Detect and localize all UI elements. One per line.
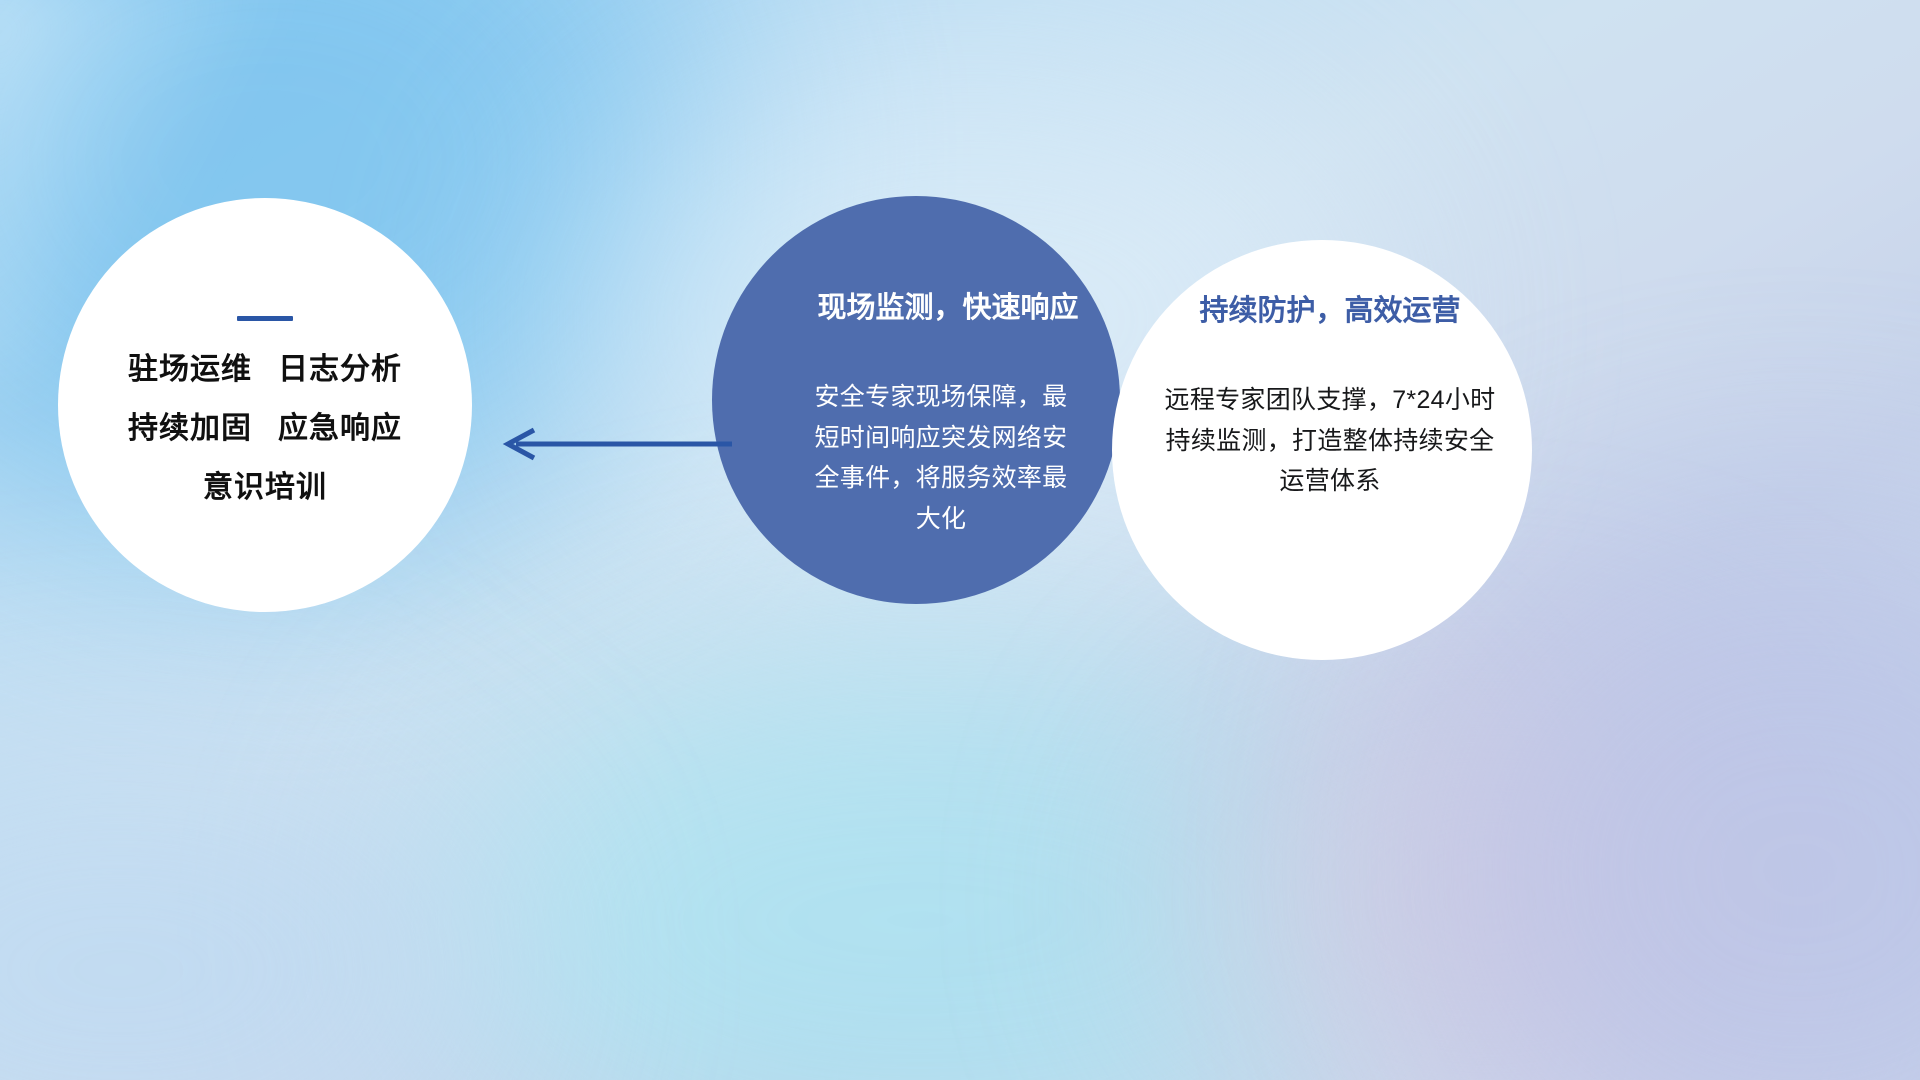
capability-row-3: 意识培训 (84, 473, 446, 503)
capabilities-content: 驻场运维日志分析 持续加固应急响应 意识培训 (58, 316, 472, 503)
capabilities-circle[interactable]: 驻场运维日志分析 持续加固应急响应 意识培训 (58, 198, 472, 612)
capability-label-incident-response: 应急响应 (278, 412, 402, 445)
capability-row-2: 持续加固应急响应 (84, 414, 446, 444)
flow-arrow (494, 418, 734, 470)
onsite-monitoring-body: 安全专家现场保障，最短时间响应突发网络安全事件，将服务效率最大化 (802, 377, 1080, 539)
onsite-monitoring-content: 现场监测，快速响应 安全专家现场保障，最短时间响应突发网络安全事件，将服务效率最… (712, 196, 1120, 604)
capability-label-awareness-training: 意识培训 (203, 471, 327, 504)
continuous-protection-content: 持续防护，高效运营 远程专家团队支撑，7*24小时持续监测，打造整体持续安全运营… (1112, 240, 1532, 660)
onsite-monitoring-circle[interactable]: 现场监测，快速响应 安全专家现场保障，最短时间响应突发网络安全事件，将服务效率最… (712, 196, 1120, 604)
divider-line (237, 316, 293, 321)
onsite-monitoring-title: 现场监测，快速响应 (806, 292, 1090, 325)
slide-canvas: 驻场运维日志分析 持续加固应急响应 意识培训 现场监测，快速响应 安全专家现场保… (0, 0, 1920, 1080)
continuous-protection-title: 持续防护，高效运营 (1162, 295, 1498, 328)
continuous-protection-body: 远程专家团队支撑，7*24小时持续监测，打造整体持续安全运营体系 (1162, 380, 1498, 502)
capability-label-log-analysis: 日志分析 (278, 353, 402, 386)
capability-label-hardening: 持续加固 (128, 412, 252, 445)
continuous-protection-circle[interactable]: 持续防护，高效运营 远程专家团队支撑，7*24小时持续监测，打造整体持续安全运营… (1112, 240, 1532, 660)
capability-label-onsite-ops: 驻场运维 (128, 353, 252, 386)
capability-row-1: 驻场运维日志分析 (84, 355, 446, 385)
